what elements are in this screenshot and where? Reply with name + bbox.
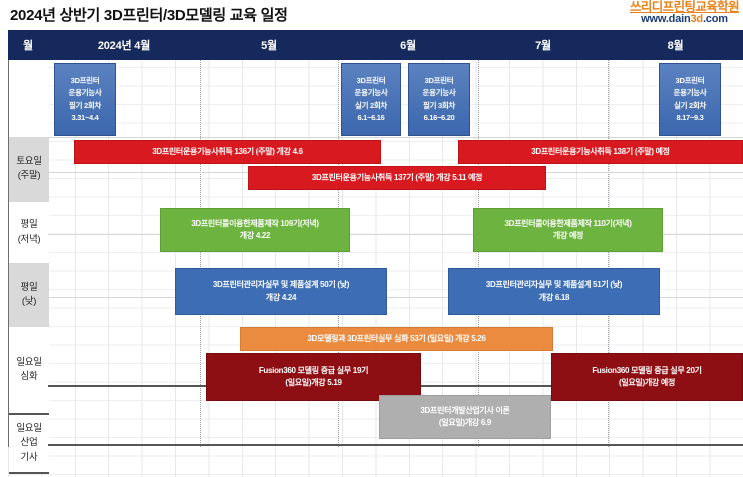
exam-box-written-2nd[interactable]: 3D프린터 운용기능사 필기 2회차 3.31~4.4 — [54, 63, 116, 136]
brand-url-prefix: www.dain — [641, 13, 690, 25]
course-bar-industrial-theory[interactable]: 3D프린터개발산업기사 이론 (일요일)개강 6.9 — [379, 395, 551, 439]
rowlabel-weekday-day: 평일 (낮) — [9, 264, 49, 327]
rowlabel-saturday-line1: 토요일 — [16, 155, 41, 169]
exam-box-written-3rd-line1: 3D프린터 — [425, 75, 454, 87]
exam-box-written-2nd-line3: 필기 2회차 — [69, 100, 101, 112]
exam-box-practical-2nd-june-line1: 3D프린터 — [357, 75, 386, 87]
course-bar-fusion360-20-line2: (일요일)개강 예정 — [619, 377, 675, 389]
schedule-sheet: 월 2024년 4월 5월 6월 7월 8월 토요일 (주말) 평일 (저녁) … — [8, 30, 743, 477]
exam-box-practical-2nd-june-line2: 운용기능사 — [355, 87, 388, 99]
header-month-july: 7월 — [478, 30, 608, 60]
course-bar-industrial-theory-line2: (일요일)개강 6.9 — [439, 417, 491, 429]
exam-box-practical-2nd-august-line2: 운용기능사 — [674, 87, 707, 99]
course-bar-fusion360-19-line1: Fusion360 모델링 중급 실무 19기 — [259, 365, 368, 377]
course-bar-sunday-advanced-53-label: 3D모델링과 3D프린터실무 심화 53기 (일요일) 개강 5.26 — [307, 333, 485, 345]
schedule-chart-page: 2024년 상반기 3D프린터/3D모델링 교육 일정 쓰리디프린팅교육학원 w… — [0, 0, 743, 477]
course-bar-weekend-137-label: 3D프린터운용기능사취득 137기 (주말) 개강 5.11 예정 — [312, 172, 482, 184]
header-month-april: 2024년 4월 — [48, 30, 200, 60]
course-bar-evening-109[interactable]: 3D프린터를이용한제품제작 109기(저녁) 개강 4.22 — [160, 208, 350, 252]
rowlabel-sunday-industrial-line1: 일요일 — [16, 422, 41, 436]
course-bar-daytime-51[interactable]: 3D프린터관리자실무 및 제품설계 51기 (낮) 개강 6.18 — [448, 268, 660, 315]
rowlabel-weekday-evening-line1: 평일 — [21, 218, 38, 232]
course-bar-weekend-136-label: 3D프린터운용기능사취득 136기 (주말) 개강 4.6 — [152, 146, 303, 158]
header-corner-label: 월 — [8, 30, 48, 60]
rowlabel-weekday-day-line1: 평일 — [21, 281, 38, 295]
course-bar-daytime-50-line2: 개강 4.24 — [266, 292, 296, 304]
rowlabel-sunday-advanced-line2: 심화 — [21, 370, 38, 384]
rowlabel-exam — [9, 60, 49, 137]
course-bar-evening-109-line1: 3D프린터를이용한제품제작 109기(저녁) — [191, 218, 319, 230]
exam-box-practical-2nd-june-line3: 실기 2회차 — [355, 100, 387, 112]
exam-box-practical-2nd-june[interactable]: 3D프린터 운용기능사 실기 2회차 6.1~6.16 — [341, 63, 401, 136]
brand-logo: 쓰리디프린팅교육학원 www.dain3d.com — [630, 1, 739, 26]
rowlabel-sunday-industrial-line2: 산업 — [21, 436, 38, 450]
row-label-column: 토요일 (주말) 평일 (저녁) 평일 (낮) 일요일 심화 일요일 산업 기사 — [8, 60, 48, 447]
exam-box-practical-2nd-august-line1: 3D프린터 — [676, 75, 705, 87]
exam-box-written-3rd[interactable]: 3D프린터 운용기능사 필기 3회차 6.16~6.20 — [408, 63, 470, 136]
exam-box-practical-2nd-august-line3: 실기 2회차 — [674, 100, 706, 112]
row-separator-1 — [48, 137, 743, 138]
rowlabel-saturday-line2: (주말) — [18, 169, 41, 183]
course-bar-fusion360-20-line1: Fusion360 모델링 중급 실무 20기 — [592, 365, 701, 377]
rowlabel-weekday-evening-line2: (저녁) — [18, 233, 41, 247]
rowlabel-sunday-industrial-line3: 기사 — [21, 451, 38, 465]
course-bar-sunday-advanced-53[interactable]: 3D모델링과 3D프린터실무 심화 53기 (일요일) 개강 5.26 — [240, 327, 553, 351]
title-bar: 2024년 상반기 3D프린터/3D모델링 교육 일정 쓰리디프린팅교육학원 w… — [0, 0, 743, 30]
exam-box-written-3rd-line4: 6.16~6.20 — [424, 112, 455, 124]
course-bar-daytime-51-line2: 개강 6.18 — [539, 292, 569, 304]
course-bar-evening-110-line1: 3D프린터를이용한제품제작 110기(저녁) — [504, 218, 631, 230]
exam-box-written-2nd-line4: 3.31~4.4 — [71, 112, 98, 124]
brand-url: www.dain3d.com — [630, 14, 739, 26]
page-title: 2024년 상반기 3D프린터/3D모델링 교육 일정 — [10, 4, 288, 25]
course-bar-fusion360-19-line2: (일요일)개강 5.19 — [285, 377, 341, 389]
course-bar-weekend-138[interactable]: 3D프린터운용기능사취득 138기 (주말) 예정 — [458, 140, 743, 164]
rowlabel-sunday-advanced: 일요일 심화 — [9, 327, 49, 415]
row-separator-6 — [48, 444, 743, 446]
course-bar-evening-109-line2: 개강 4.22 — [240, 230, 270, 242]
course-bar-daytime-50[interactable]: 3D프린터관리자실무 및 제품설계 50기 (낮) 개강 4.24 — [175, 268, 387, 315]
course-bar-fusion360-20[interactable]: Fusion360 모델링 중급 실무 20기 (일요일)개강 예정 — [551, 353, 743, 401]
header-month-june: 6월 — [338, 30, 478, 60]
course-bar-evening-110-line2: 개강 예정 — [553, 230, 583, 242]
brand-url-suffix: .com — [703, 13, 728, 25]
exam-box-practical-2nd-june-line4: 6.1~6.16 — [357, 112, 384, 124]
month-divider-july — [478, 60, 479, 447]
header-month-august: 8월 — [608, 30, 743, 60]
course-bar-weekend-136[interactable]: 3D프린터운용기능사취득 136기 (주말) 개강 4.6 — [74, 140, 381, 164]
exam-box-written-2nd-line2: 운용기능사 — [69, 87, 102, 99]
course-bar-daytime-50-line1: 3D프린터관리자실무 및 제품설계 50기 (낮) — [213, 279, 349, 291]
exam-box-written-3rd-line2: 운용기능사 — [423, 87, 456, 99]
rowlabel-weekday-evening: 평일 (저녁) — [9, 202, 49, 264]
brand-url-accent: 3d — [691, 13, 703, 25]
exam-box-practical-2nd-august[interactable]: 3D프린터 운용기능사 실기 2회차 8.17~9.3 — [659, 63, 721, 136]
header-month-may: 5월 — [200, 30, 338, 60]
month-header-row: 월 2024년 4월 5월 6월 7월 8월 — [8, 30, 743, 60]
month-divider-may — [200, 60, 201, 447]
rowlabel-sunday-advanced-line1: 일요일 — [16, 356, 41, 370]
exam-box-practical-2nd-august-line4: 8.17~9.3 — [676, 112, 703, 124]
exam-box-written-2nd-line1: 3D프린터 — [71, 75, 100, 87]
course-bar-weekend-138-label: 3D프린터운용기능사취득 138기 (주말) 예정 — [531, 146, 669, 158]
course-bar-fusion360-19[interactable]: Fusion360 모델링 중급 실무 19기 (일요일)개강 5.19 — [206, 353, 421, 401]
course-bar-daytime-51-line1: 3D프린터관리자실무 및 제품설계 51기 (낮) — [486, 279, 622, 291]
course-bar-evening-110[interactable]: 3D프린터를이용한제품제작 110기(저녁) 개강 예정 — [473, 208, 663, 252]
rowlabel-saturday: 토요일 (주말) — [9, 137, 49, 202]
rowlabel-weekday-day-line2: (낮) — [22, 295, 36, 309]
rowlabel-sunday-industrial: 일요일 산업 기사 — [9, 415, 49, 474]
course-bar-weekend-137[interactable]: 3D프린터운용기능사취득 137기 (주말) 개강 5.11 예정 — [248, 166, 546, 190]
exam-box-written-3rd-line3: 필기 3회차 — [423, 100, 455, 112]
course-bar-industrial-theory-line1: 3D프린터개발산업기사 이론 — [420, 405, 509, 417]
